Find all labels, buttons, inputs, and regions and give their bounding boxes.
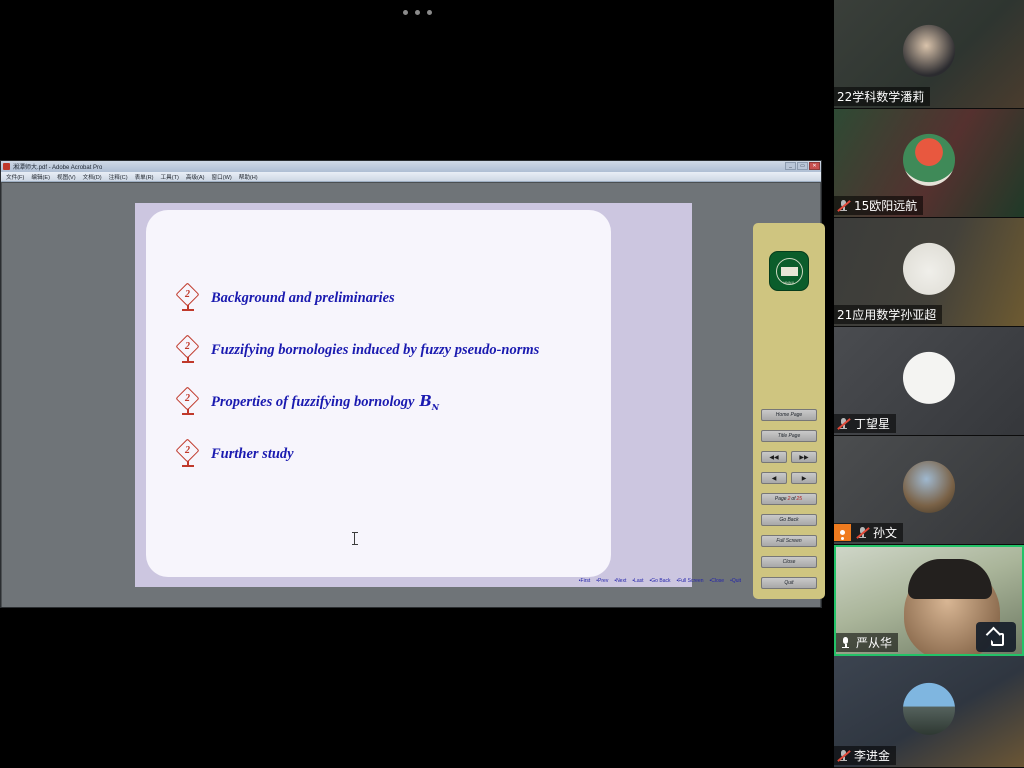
footer-link-go-back[interactable]: •Go Back (650, 578, 671, 584)
participant-tile[interactable]: 22学科数学潘莉 (834, 0, 1024, 109)
signpost-bullet-icon: 2 (178, 337, 198, 363)
avatar (903, 243, 955, 295)
expand-collapse-icon[interactable] (976, 622, 1016, 652)
menu-forms[interactable]: 表单(R) (135, 173, 154, 181)
menu-help[interactable]: 帮助(H) (239, 173, 258, 181)
menu-tools[interactable]: 工具(T) (161, 173, 179, 181)
avatar (903, 134, 955, 186)
first-last-button-row: ◀◀ ▶▶ (761, 451, 817, 463)
participant-namebar: 21应用数学孙亚超 (834, 305, 942, 324)
participant-name: 严从华 (856, 634, 892, 651)
participant-namebar: 22学科数学潘莉 (834, 87, 930, 106)
signpost-bullet-icon: 2 (178, 441, 198, 467)
avatar (903, 461, 955, 513)
window-minimize-button[interactable]: _ (785, 162, 796, 170)
avatar (903, 352, 955, 404)
acrobat-titlebar[interactable]: 湘潭师大.pdf - Adobe Acrobat Pro _ ▭ ✕ (1, 161, 821, 172)
footer-link-prev[interactable]: •Prev (596, 578, 608, 584)
acrobat-menubar[interactable]: 文件(F) 编辑(E) 视图(V) 文档(D) 注释(C) 表单(R) 工具(T… (1, 172, 821, 182)
slide-bullet-1: 2 Background and preliminaries (178, 285, 395, 311)
pdf-slide-page: 2 Background and preliminaries 2 Fuzzify… (135, 203, 692, 587)
avatar (903, 25, 955, 77)
indicator-dot (427, 10, 432, 15)
quit-button[interactable]: Quit (761, 577, 817, 589)
text-cursor-icon (354, 532, 355, 545)
page-total: 25 (796, 496, 804, 502)
go-back-button[interactable]: Go Back (761, 514, 817, 526)
window-maximize-button[interactable]: ▭ (797, 162, 808, 170)
indicator-dot (415, 10, 420, 15)
participant-name: 22学科数学潘莉 (837, 88, 924, 105)
mic-muted-icon (837, 749, 850, 762)
participant-tile[interactable]: 李进金 (834, 656, 1024, 768)
participant-name: 孙文 (873, 524, 897, 541)
participant-name: 15欧阳远航 (854, 197, 917, 214)
signpost-bullet-icon: 2 (178, 389, 198, 415)
shared-screen-area[interactable]: 湘潭师大.pdf - Adobe Acrobat Pro _ ▭ ✕ 文件(F)… (0, 0, 834, 768)
participant-namebar: 孙文 (834, 523, 903, 542)
menu-edit[interactable]: 编辑(E) (31, 173, 50, 181)
page-indicator-button[interactable]: Page 2 of 25 (761, 493, 817, 505)
menu-comment[interactable]: 注释(C) (109, 173, 128, 181)
first-page-button[interactable]: ◀◀ (761, 451, 787, 463)
participant-tile[interactable]: 15欧阳远航 (834, 109, 1024, 218)
participant-tile[interactable]: 孙文 (834, 436, 1024, 545)
bullet-3-math-symbol: B (419, 393, 431, 410)
slide-footer-links: •First •Prev •Next •Last •Go Back •Full … (146, 576, 746, 585)
mic-muted-icon (856, 526, 869, 539)
participant-namebar: 李进金 (834, 746, 896, 765)
menu-file[interactable]: 文件(F) (6, 173, 24, 181)
bullet-2-text: Fuzzifying bornologies induced by fuzzy … (211, 342, 539, 359)
menu-window[interactable]: 窗口(W) (212, 173, 232, 181)
signpost-bullet-icon: 2 (178, 285, 198, 311)
bullet-1-text: Background and preliminaries (211, 290, 395, 307)
participant-tile-active-speaker[interactable]: 严从华 (834, 545, 1024, 656)
slide-bullet-3: 2 Properties of fuzzifying bornology BN (178, 389, 439, 415)
participant-name: 李进金 (854, 747, 890, 764)
last-page-button[interactable]: ▶▶ (791, 451, 817, 463)
title-page-button[interactable]: Title Page (761, 430, 817, 442)
bullet-3-label: Properties of fuzzifying bornology (211, 394, 414, 410)
close-button[interactable]: Close (761, 556, 817, 568)
indicator-dot (403, 10, 408, 15)
participant-video-strip[interactable]: 22学科数学潘莉 15欧阳远航 21应用数学孙亚超 (834, 0, 1024, 768)
video-feed-hair (908, 559, 992, 599)
slide-navigation-panel: HNNU Home Page Title Page ◀◀ ▶▶ ◀ ▶ (753, 223, 825, 599)
footer-link-full-screen[interactable]: •Full Screen (676, 578, 703, 584)
participant-tile[interactable]: 丁望星 (834, 327, 1024, 436)
participant-namebar: 15欧阳远航 (834, 196, 923, 215)
menu-view[interactable]: 视图(V) (57, 173, 76, 181)
mic-muted-icon (837, 417, 850, 430)
pdf-document-canvas[interactable]: 2 Background and preliminaries 2 Fuzzify… (2, 183, 820, 607)
next-page-button[interactable]: ▶ (791, 472, 817, 484)
acrobat-window-title: 湘潭师大.pdf - Adobe Acrobat Pro (13, 162, 102, 171)
prev-page-button[interactable]: ◀ (761, 472, 787, 484)
bullet-4-text: Further study (211, 446, 294, 463)
meeting-screen: 湘潭师大.pdf - Adobe Acrobat Pro _ ▭ ✕ 文件(F)… (0, 0, 1024, 768)
acrobat-icon (3, 163, 10, 170)
full-screen-button[interactable]: Full Screen (761, 535, 817, 547)
prev-next-button-row: ◀ ▶ (761, 472, 817, 484)
participant-name: 丁望星 (854, 415, 890, 432)
menu-document[interactable]: 文档(D) (83, 173, 102, 181)
footer-link-next[interactable]: •Next (614, 578, 626, 584)
bullet-3-math-subscript: N (432, 401, 439, 411)
footer-link-quit[interactable]: •Quit (730, 578, 741, 584)
footer-link-close[interactable]: •Close (710, 578, 725, 584)
participant-tile[interactable]: 21应用数学孙亚超 (834, 218, 1024, 327)
slide-content-panel: 2 Background and preliminaries 2 Fuzzify… (146, 210, 611, 577)
footer-link-last[interactable]: •Last (632, 578, 643, 584)
slide-bullet-4: 2 Further study (178, 441, 294, 467)
host-badge-icon (834, 524, 851, 541)
slide-bullet-2: 2 Fuzzifying bornologies induced by fuzz… (178, 337, 539, 363)
participant-name: 21应用数学孙亚超 (837, 306, 936, 323)
window-close-button[interactable]: ✕ (809, 162, 820, 170)
footer-link-first[interactable]: •First (579, 578, 590, 584)
menu-advanced[interactable]: 高级(A) (186, 173, 205, 181)
logo-abbrev: HNNU (770, 281, 808, 285)
home-page-button[interactable]: Home Page (761, 409, 817, 421)
bullet-3-text: Properties of fuzzifying bornology BN (211, 393, 439, 412)
participant-namebar: 严从华 (836, 633, 898, 652)
acrobat-window[interactable]: 湘潭师大.pdf - Adobe Acrobat Pro _ ▭ ✕ 文件(F)… (0, 160, 822, 608)
mic-muted-icon (837, 199, 850, 212)
screen-share-indicator-dots (0, 0, 834, 24)
participant-namebar: 丁望星 (834, 414, 896, 433)
hnnu-logo: HNNU (769, 251, 809, 291)
mic-active-icon (839, 636, 852, 649)
avatar (903, 682, 955, 734)
page-label: Page (775, 496, 787, 502)
